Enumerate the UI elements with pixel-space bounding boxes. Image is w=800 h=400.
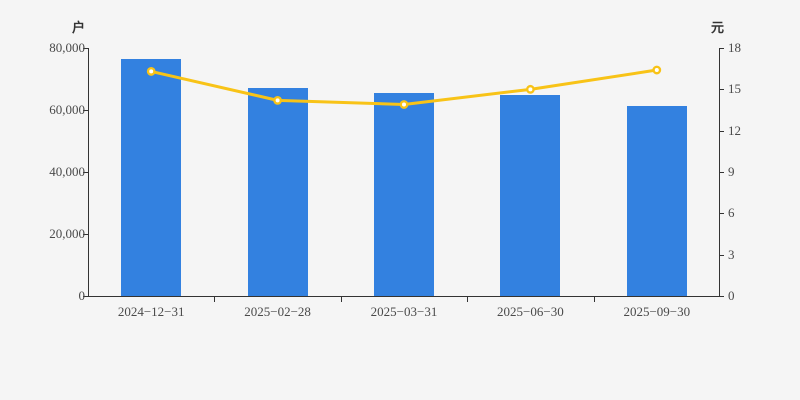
line-marker[interactable] <box>401 101 407 107</box>
x-tick-mark <box>214 297 215 302</box>
line-marker[interactable] <box>148 68 154 74</box>
x-tick-label: 2024−12−31 <box>118 304 185 320</box>
right-tick-label: 6 <box>728 205 735 221</box>
line-marker[interactable] <box>527 86 533 92</box>
line-series-path <box>151 70 657 104</box>
right-tick-label: 9 <box>728 164 735 180</box>
right-tick-mark <box>719 296 724 297</box>
right-axis-unit-label: 元 <box>711 17 724 36</box>
right-tick-label: 15 <box>728 81 741 97</box>
x-tick-label: 2025−09−30 <box>623 304 690 320</box>
left-tick-label: 20,000 <box>49 226 85 242</box>
x-axis-line <box>88 296 720 297</box>
plot-area: 020,00040,00060,00080,000 0369121518 202… <box>88 48 720 296</box>
x-tick-label: 2025−03−31 <box>371 304 438 320</box>
left-tick-label: 0 <box>79 288 86 304</box>
x-tick-mark <box>594 297 595 302</box>
line-series-layer <box>88 48 720 296</box>
left-tick-label: 60,000 <box>49 102 85 118</box>
line-marker[interactable] <box>274 97 280 103</box>
right-tick-label: 3 <box>728 247 735 263</box>
x-tick-label: 2025−06−30 <box>497 304 564 320</box>
right-tick-label: 12 <box>728 123 741 139</box>
x-tick-label: 2025−02−28 <box>244 304 311 320</box>
left-tick-label: 80,000 <box>49 40 85 56</box>
x-tick-mark <box>341 297 342 302</box>
left-tick-label: 40,000 <box>49 164 85 180</box>
right-tick-label: 0 <box>728 288 735 304</box>
chart-container: 户 元 020,00040,00060,00080,000 0369121518… <box>0 0 800 400</box>
line-marker[interactable] <box>654 67 660 73</box>
left-axis-unit-label: 户 <box>72 17 85 36</box>
x-tick-mark <box>467 297 468 302</box>
right-tick-label: 18 <box>728 40 741 56</box>
